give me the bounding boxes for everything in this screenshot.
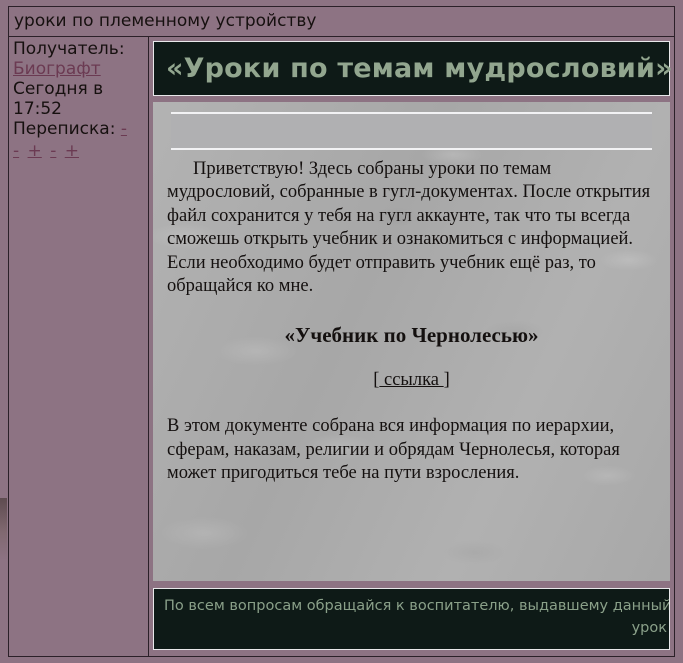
thread-link-3[interactable]: -: [50, 141, 56, 161]
thread-row: Переписка: -: [13, 119, 145, 139]
message-subject-bar: уроки по племенному устройству: [9, 7, 674, 37]
footer-note-line-1: По всем вопросам обращайся к воспитателю…: [164, 598, 670, 614]
thread-link-0[interactable]: -: [121, 119, 127, 139]
thread-link-2[interactable]: +: [28, 141, 42, 161]
message-content-column: «Уроки по темам мудрословий» Приветствую…: [149, 37, 674, 656]
textbook-subheading: «Учебник по Чернолесью»: [167, 323, 656, 348]
thread-link-1[interactable]: -: [13, 141, 19, 161]
lesson-banner: «Уроки по темам мудрословий»: [153, 41, 670, 96]
link-close-bracket: ]: [444, 370, 450, 390]
lesson-body-panel: Приветствую! Здесь собраны уроки по тема…: [153, 102, 670, 581]
resend-paragraph: Если необходимо будет отправить учебник …: [167, 252, 656, 299]
footer-note-line-2: урок: [164, 618, 667, 640]
textbook-link-text[interactable]: ссылка: [379, 370, 443, 390]
lesson-banner-title: «Уроки по темам мудрословий»: [166, 55, 673, 82]
message-meta-sidebar: Получатель: Биографт Сегодня в 17:52 Пер…: [9, 37, 149, 656]
thread-mini-links: - + - +: [13, 141, 145, 161]
thread-label: Переписка:: [13, 119, 115, 139]
message-frame: уроки по племенному устройству Получател…: [8, 6, 675, 657]
textbook-description: В этом документе собрана вся информация …: [167, 415, 656, 485]
message-subject: уроки по племенному устройству: [14, 13, 316, 30]
thread-link-4[interactable]: +: [65, 141, 79, 161]
page-edge-artifact: [0, 498, 7, 560]
textbook-link-row: [ ссылка ]: [167, 370, 656, 391]
recipient-name-row: Биографт: [13, 59, 145, 79]
message-body: Получатель: Биографт Сегодня в 17:52 Пер…: [9, 37, 674, 656]
message-page: уроки по племенному устройству Получател…: [0, 0, 683, 663]
recipient-link[interactable]: Биографт: [13, 59, 101, 79]
lesson-footer: По всем вопросам обращайся к воспитателю…: [153, 588, 670, 650]
image-placeholder: [171, 112, 652, 150]
date-line-1: Сегодня в: [13, 79, 145, 99]
date-line-2: 17:52: [13, 99, 145, 119]
textbook-link[interactable]: [ ссылка ]: [373, 370, 450, 390]
intro-paragraph: Приветствую! Здесь собраны уроки по тема…: [167, 158, 656, 252]
footer-note: По всем вопросам обращайся к воспитателю…: [164, 596, 667, 640]
recipient-label: Получатель:: [13, 39, 145, 59]
